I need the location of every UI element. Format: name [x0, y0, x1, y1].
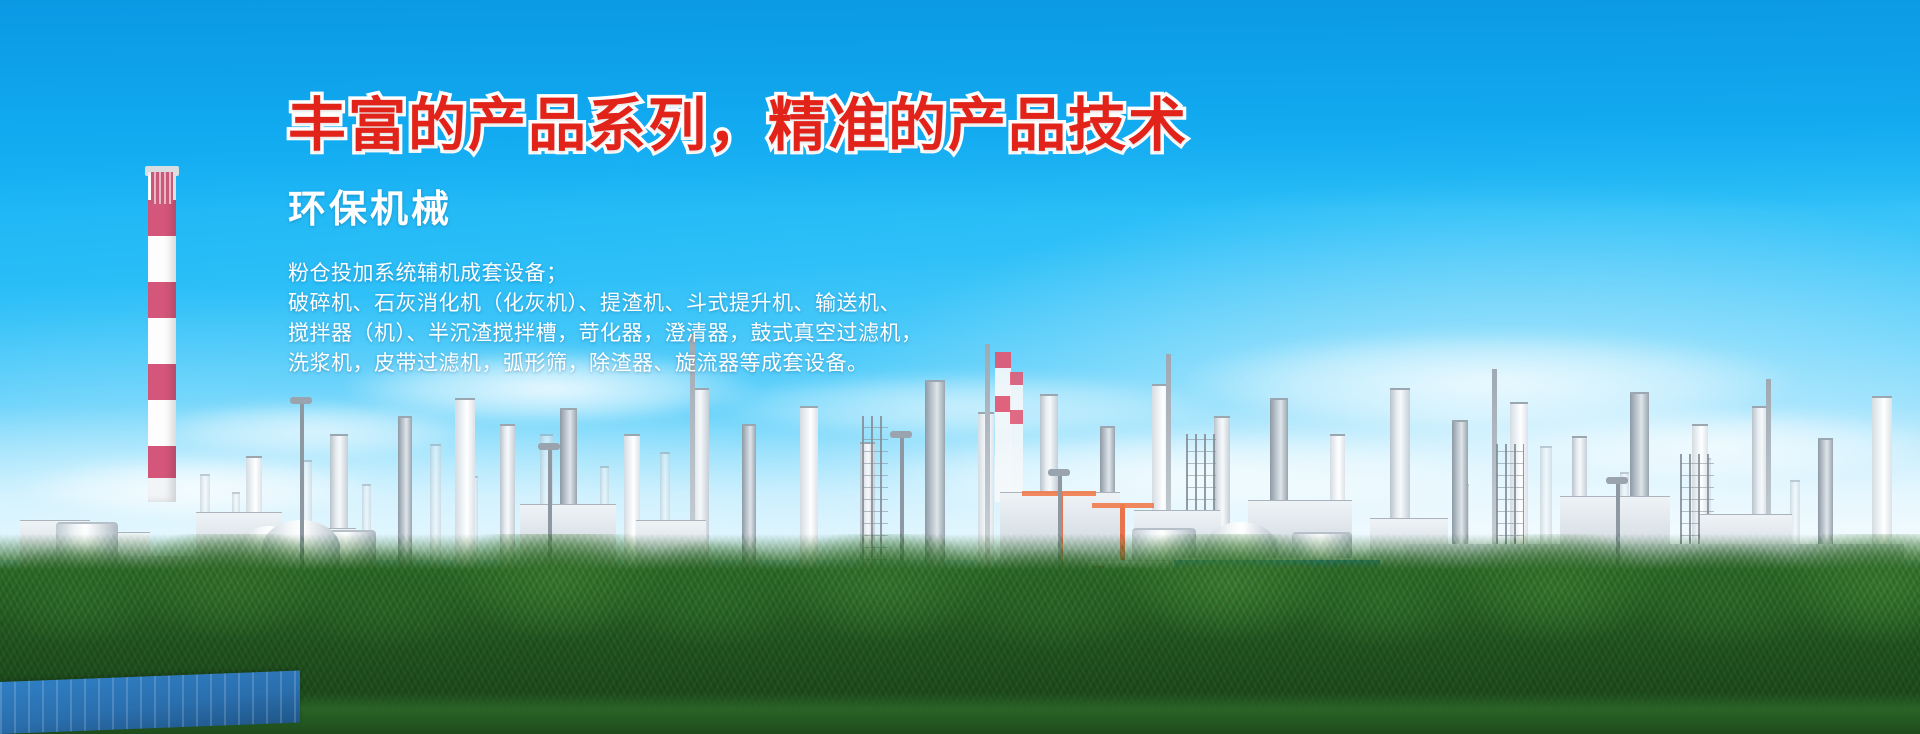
- banner-body-line: 搅拌器（机）、半沉渣搅拌槽，苛化器，澄清器，鼓式真空过滤机，: [288, 319, 1288, 349]
- banner-body-line: 洗浆机，皮带过滤机，弧形筛，除渣器、旋流器等成套设备。: [288, 349, 1288, 379]
- main-chimney: [148, 172, 176, 502]
- chimney-top-grille: [151, 172, 173, 204]
- banner-body-line: 粉仓投加系统辅机成套设备；: [288, 259, 1288, 289]
- banner-body-line: 破碎机、石灰消化机（化灰机）、提渣机、斗式提升机、输送机、: [288, 289, 1288, 319]
- chimney-tertiary: [1010, 372, 1023, 502]
- banner-headline: 丰富的产品系列，精准的产品技术: [288, 96, 1288, 156]
- banner-copy-block: 丰富的产品系列，精准的产品技术 环保机械 粉仓投加系统辅机成套设备； 破碎机、石…: [288, 96, 1288, 379]
- hero-banner: 中国石化 名学职工创业 争当职工名入最大化 安全生产 质量第一 丰富的产品系列，…: [0, 0, 1920, 734]
- banner-body-text: 粉仓投加系统辅机成套设备； 破碎机、石灰消化机（化灰机）、提渣机、斗式提升机、输…: [288, 259, 1288, 379]
- banner-subhead: 环保机械: [288, 178, 1288, 233]
